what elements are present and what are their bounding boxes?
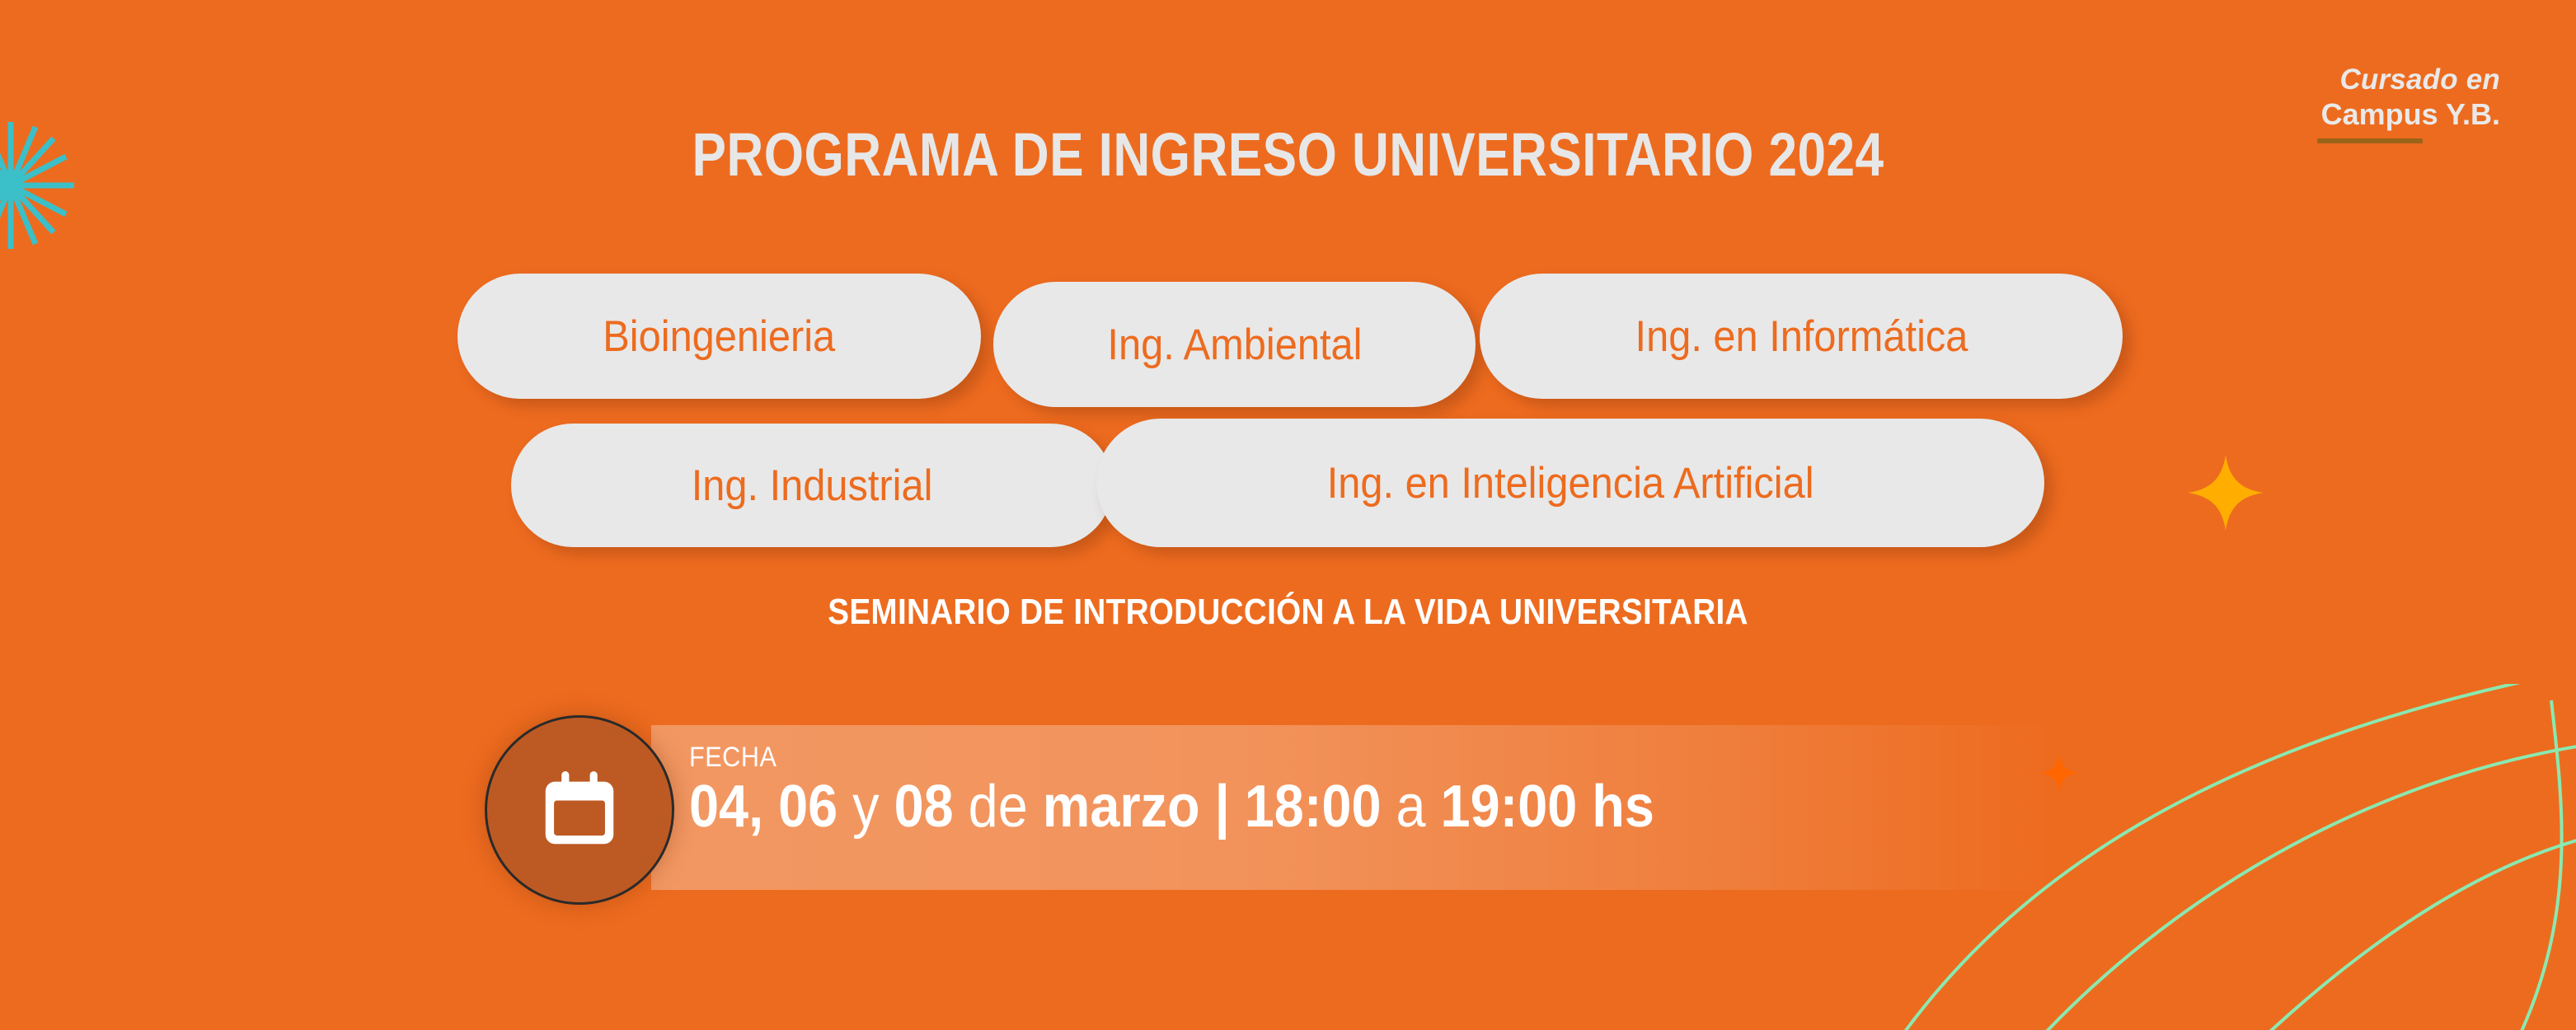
date-days: 04, 06 [689,774,838,840]
seminar-heading: SEMINARIO DE INTRODUCCIÓN A LA VIDA UNIV… [155,592,2422,633]
date-value: 04, 06 y 08 de marzo | 18:00 a 19:00 hs [689,775,1654,838]
career-pill-ing-ambiental[interactable]: Ing. Ambiental [993,282,1476,407]
career-pill-bioingenieria[interactable]: Bioingenieria [457,274,981,399]
career-pill-label: Bioingenieria [603,311,836,362]
career-pill-ing-en-inteligencia-artificial[interactable]: Ing. en Inteligencia Artificial [1096,419,2044,547]
campus-note-line1: Cursado en [2317,64,2500,96]
career-pill-group: Bioingenieria Ing. Ambiental Ing. en Inf… [0,269,2576,532]
date-label: FECHA [689,742,1654,774]
career-pill-ing-en-informatica[interactable]: Ing. en Informática [1480,274,2123,399]
date-connector-y: y [838,774,894,840]
career-pill-ing-industrial[interactable]: Ing. Industrial [511,424,1113,547]
date-day3: 08 [894,774,954,840]
date-connector-de: de [954,774,1043,840]
career-pill-label: Ing. en Informática [1635,311,1968,362]
calendar-icon [534,765,625,855]
date-icon-badge [485,715,674,905]
career-pill-label: Ing. Ambiental [1107,320,1362,370]
date-text-block: FECHA 04, 06 y 08 de marzo | 18:00 a 19:… [689,742,1762,838]
career-pill-label: Ing. Industrial [692,461,933,511]
date-separator: | [1200,774,1245,840]
date-connector-a: a [1381,774,1440,840]
date-time-start: 18:00 [1245,774,1382,840]
career-pill-label: Ing. en Inteligencia Artificial [1327,458,1814,508]
date-month: marzo [1043,774,1200,840]
date-time-end: 19:00 hs [1441,774,1654,840]
page-title: PROGRAMA DE INGRESO UNIVERSITARIO 2024 [206,119,2370,190]
starburst-icon [0,115,81,255]
